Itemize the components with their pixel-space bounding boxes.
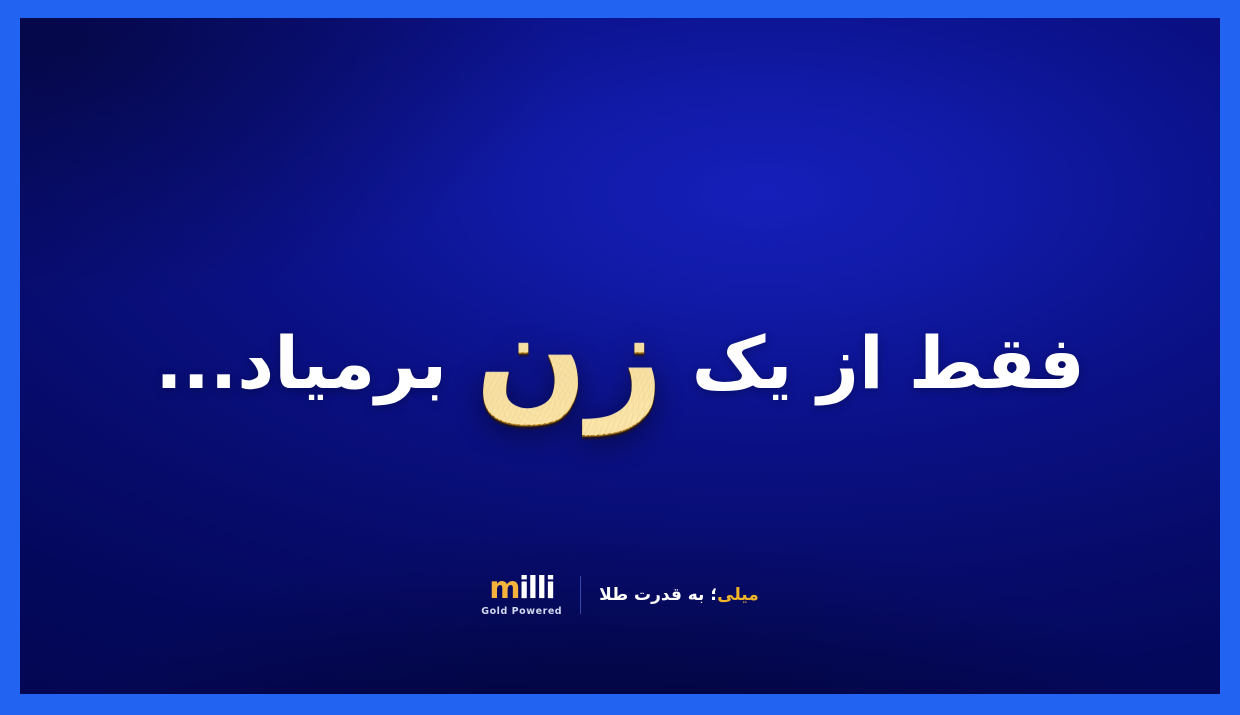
banner-stage: فقط از یک زن برمیاد... میلی؛ به قدرت طلا… — [20, 18, 1220, 694]
milli-logo[interactable]: milli Gold Powered — [481, 574, 562, 617]
tagline-rest-text: ؛ به قدرت طلا — [599, 585, 717, 605]
headline: فقط از یک زن برمیاد... — [20, 286, 1220, 446]
headline-lead-text: فقط از یک — [692, 327, 1085, 405]
tagline-brand-word: میلی — [717, 585, 759, 605]
wordmark-gold-letter: m — [489, 571, 519, 606]
brand-lockup: میلی؛ به قدرت طلا milli Gold Powered — [20, 566, 1220, 624]
outer-frame: فقط از یک زن برمیاد... میلی؛ به قدرت طلا… — [0, 0, 1240, 715]
lockup-divider — [580, 576, 581, 614]
headline-trail-text: برمیاد... — [155, 327, 447, 405]
milli-wordmark: milli — [489, 574, 554, 604]
banner-content: فقط از یک زن برمیاد... میلی؛ به قدرت طلا… — [20, 18, 1220, 694]
wordmark-rest-letters: illi — [519, 571, 554, 606]
headline-gold-word-zan: زن — [469, 293, 670, 439]
logo-subtitle: Gold Powered — [481, 607, 562, 617]
tagline: میلی؛ به قدرت طلا — [599, 587, 759, 604]
